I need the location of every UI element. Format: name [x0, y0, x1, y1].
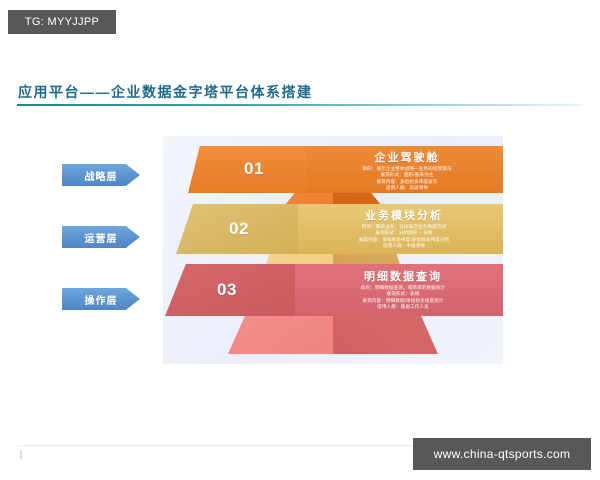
page-title: 应用平台——企业数据金字塔平台体系搭建 [18, 82, 313, 102]
banner-number: 02 [229, 219, 249, 239]
banner-content: 明细数据查询 目的：明细数据查询，或简单的数据统计 展现形式：表格 展现内容：明… [303, 268, 503, 311]
banner-content: 业务模块分析 目的：聚焦业务，往深层次业务数据方式 展现形式：分析图形 + 表格… [306, 207, 502, 250]
pyramid-banner-03[interactable]: 03 明细数据查询 目的：明细数据查询，或简单的数据统计 展现形式：表格 展现内… [165, 264, 503, 316]
layer-arrow-strategy[interactable]: 战略层 [62, 164, 140, 186]
watermark-top-left: TG: MYYJJPP [8, 10, 116, 34]
banner-title: 企业驾驶舱 [316, 149, 498, 165]
banner-content: 企业驾驶舱 目的：展示企业整体战略一业务的经营情况 展现形式：图形/图表为主 展… [316, 149, 498, 192]
title-underline-rule [17, 104, 583, 106]
layer-arrow-label: 操作层 [85, 292, 118, 307]
layer-arrow-label: 运营层 [85, 230, 118, 245]
banner-detail-line: 适用人群：基层工作人员 [303, 304, 503, 310]
footer-mark [20, 450, 22, 459]
banner-number: 01 [244, 159, 264, 179]
layer-arrow-operations[interactable]: 运营层 [62, 226, 140, 248]
slide-header: 应用平台——企业数据金字塔平台体系搭建 [0, 82, 600, 114]
pyramid-banner-02[interactable]: 02 业务模块分析 目的：聚焦业务，往深层次业务数据方式 展现形式：分析图形 +… [176, 204, 503, 254]
banner-title: 业务模块分析 [306, 207, 502, 223]
banner-detail-line: 适用人群：高层领导 [316, 185, 498, 191]
layer-arrow-execution[interactable]: 操作层 [62, 288, 140, 310]
pyramid-banner-01[interactable]: 01 企业驾驶舱 目的：展示企业整体战略一业务的经营情况 展现形式：图形/图表为… [188, 146, 503, 193]
watermark-bottom-right: www.china-qtsports.com [413, 438, 591, 470]
banner-title: 明细数据查询 [303, 268, 503, 284]
pyramid-diagram-panel: 03 明细数据查询 目的：明细数据查询，或简单的数据统计 展现形式：表格 展现内… [163, 136, 503, 364]
banner-detail-line: 适用人群：中层领导 [306, 243, 502, 249]
layer-arrow-label: 战略层 [85, 168, 118, 183]
banner-number: 03 [217, 280, 237, 300]
slide-canvas: 应用平台——企业数据金字塔平台体系搭建 战略层 运营层 操作层 [0, 60, 600, 400]
